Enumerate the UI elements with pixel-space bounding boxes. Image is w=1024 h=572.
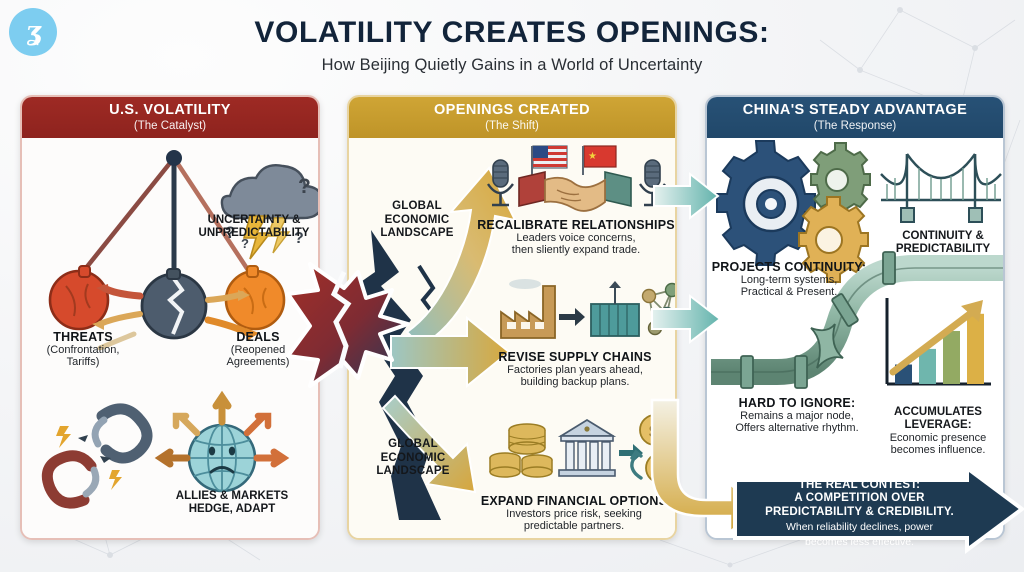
panel-header-openings-created: OPENINGS CREATED (The Shift) — [349, 97, 675, 138]
caption-line: (Confrontation, — [27, 344, 139, 356]
coins-bank-currency-icon: $ ¥ — [489, 414, 677, 494]
openings-to-china-arrow-top — [652, 172, 720, 220]
svg-text:?: ? — [298, 175, 311, 198]
label-global-economic-landscape-top: GLOBAL ECONOMIC LANDSCAPE — [367, 200, 467, 241]
caption-expand-financial-options: EXPAND FINANCIAL OPTIONS Investors price… — [473, 494, 675, 533]
caption-threats: THREATS (Confrontation, Tariffs) — [27, 330, 139, 369]
caption-line: EXPAND FINANCIAL OPTIONS — [473, 494, 675, 508]
red-wrecking-ball-icon — [50, 266, 108, 329]
caption-line: predictable partners. — [473, 520, 675, 532]
china-flag-icon: ★ — [583, 146, 616, 175]
caption-continuity-predictability: CONTINUITY & PREDICTABILITY — [883, 230, 1003, 256]
storm-cloud-icon: ? ? ? ? — [222, 165, 320, 259]
label-line: LANDSCAPE — [367, 227, 467, 241]
banner-line: becomes less effective. — [747, 536, 972, 548]
handshake-flags-microphones-icon: ★ — [485, 142, 675, 222]
caption-line: RECALIBRATE RELATIONSHIPS — [477, 218, 675, 232]
caption-line: THREATS — [27, 330, 139, 344]
suspension-bridge-icon — [877, 144, 1005, 226]
caption-line: Leaders voice concerns, — [477, 232, 675, 244]
small-arrow-icon — [559, 308, 585, 326]
cracked-core-ball-icon — [142, 269, 206, 338]
caption-line: Economic presence — [875, 432, 1001, 444]
panel-title: OPENINGS CREATED — [434, 103, 590, 118]
caption-line: building backup plans. — [477, 376, 673, 388]
caption-line: Investors price risk, seeking — [473, 508, 675, 520]
bank-icon — [559, 420, 615, 476]
caption-line: Factories plan years ahead, — [477, 364, 673, 376]
caption-line: CONTINUITY & — [883, 230, 1003, 243]
panel-header-china-steady-advantage: CHINA'S STEADY ADVANTAGE (The Response) — [707, 97, 1003, 138]
panel-header-us-volatility: U.S. VOLATILITY (The Catalyst) — [22, 97, 318, 138]
banner-line: When reliability declines, power — [747, 521, 972, 533]
caption-uncertainty: UNCERTAINTY & UNPREDICTABILITY — [190, 214, 318, 240]
svg-text:★: ★ — [588, 151, 597, 162]
panel-subtitle: (The Catalyst) — [134, 120, 206, 132]
microphone-left-icon — [488, 160, 513, 205]
panel-title: U.S. VOLATILITY — [109, 103, 231, 118]
shipping-container-icon — [591, 281, 639, 336]
banner-text: THE REAL CONTEST: A COMPETITION OVER PRE… — [747, 479, 972, 548]
panel-subtitle: (The Shift) — [485, 120, 539, 132]
caption-line: PREDICTABILITY — [883, 243, 1003, 256]
factory-icon — [501, 279, 555, 338]
label-global-economic-landscape-bottom: GLOBAL ECONOMIC LANDSCAPE — [363, 438, 463, 479]
caption-line: becomes influence. — [875, 444, 1001, 456]
us-flag-icon — [532, 146, 567, 175]
page-title: VOLATILITY CREATES OPENINGS: — [0, 16, 1024, 50]
label-line: ECONOMIC — [363, 452, 463, 466]
broken-chain-icon — [47, 409, 147, 503]
caption-line: then sliently expand trade. — [477, 244, 675, 256]
banner-line: A COMPETITION OVER — [747, 492, 972, 505]
banner-line: THE REAL CONTEST: — [747, 479, 972, 492]
volatility-to-openings-arrow — [284, 258, 416, 390]
label-line: LANDSCAPE — [363, 465, 463, 479]
handshake-icon — [519, 172, 631, 211]
page-header: VOLATILITY CREATES OPENINGS: How Beijing… — [0, 16, 1024, 75]
label-line: GLOBAL — [367, 200, 467, 214]
panel-title: CHINA'S STEADY ADVANTAGE — [743, 103, 967, 118]
panel-us-volatility: U.S. VOLATILITY (The Catalyst) ? ? — [20, 95, 320, 540]
caption-line: HEDGE, ADAPT — [156, 503, 308, 516]
caption-line: Tariffs) — [27, 356, 139, 368]
coins-icon — [490, 424, 552, 477]
page-subtitle: How Beijing Quietly Gains in a World of … — [0, 56, 1024, 75]
panel-subtitle: (The Response) — [814, 120, 896, 132]
rising-bar-chart-icon — [877, 292, 997, 402]
caption-allies-markets: ALLIES & MARKETS HEDGE, ADAPT — [156, 490, 308, 516]
caption-line: ACCUMULATES — [875, 406, 1001, 419]
caption-line: REVISE SUPPLY CHAINS — [477, 350, 673, 364]
caption-accumulates-leverage: ACCUMULATES LEVERAGE: Economic presence … — [875, 406, 1001, 456]
label-line: GLOBAL — [363, 438, 463, 452]
caption-recalibrate-relationships: RECALIBRATE RELATIONSHIPS Leaders voice … — [477, 218, 675, 257]
label-line: ECONOMIC — [367, 214, 467, 228]
bar-3 — [943, 331, 960, 384]
banner-line: PREDICTABILITY & CREDIBILITY. — [747, 506, 972, 519]
bar-4 — [967, 314, 984, 384]
caption-line: UNCERTAINTY & — [190, 214, 318, 227]
openings-to-china-arrow-mid — [650, 294, 722, 344]
infographic-canvas: ʓ VOLATILITY CREATES OPENINGS: How Beiji… — [0, 0, 1024, 572]
caption-revise-supply-chains: REVISE SUPPLY CHAINS Factories plan year… — [477, 350, 673, 389]
caption-line: UNPREDICTABILITY — [190, 227, 318, 240]
caption-line: LEVERAGE: — [875, 419, 1001, 432]
bottom-banner: THE REAL CONTEST: A COMPETITION OVER PRE… — [733, 466, 1024, 552]
caption-line: ALLIES & MARKETS — [156, 490, 308, 503]
